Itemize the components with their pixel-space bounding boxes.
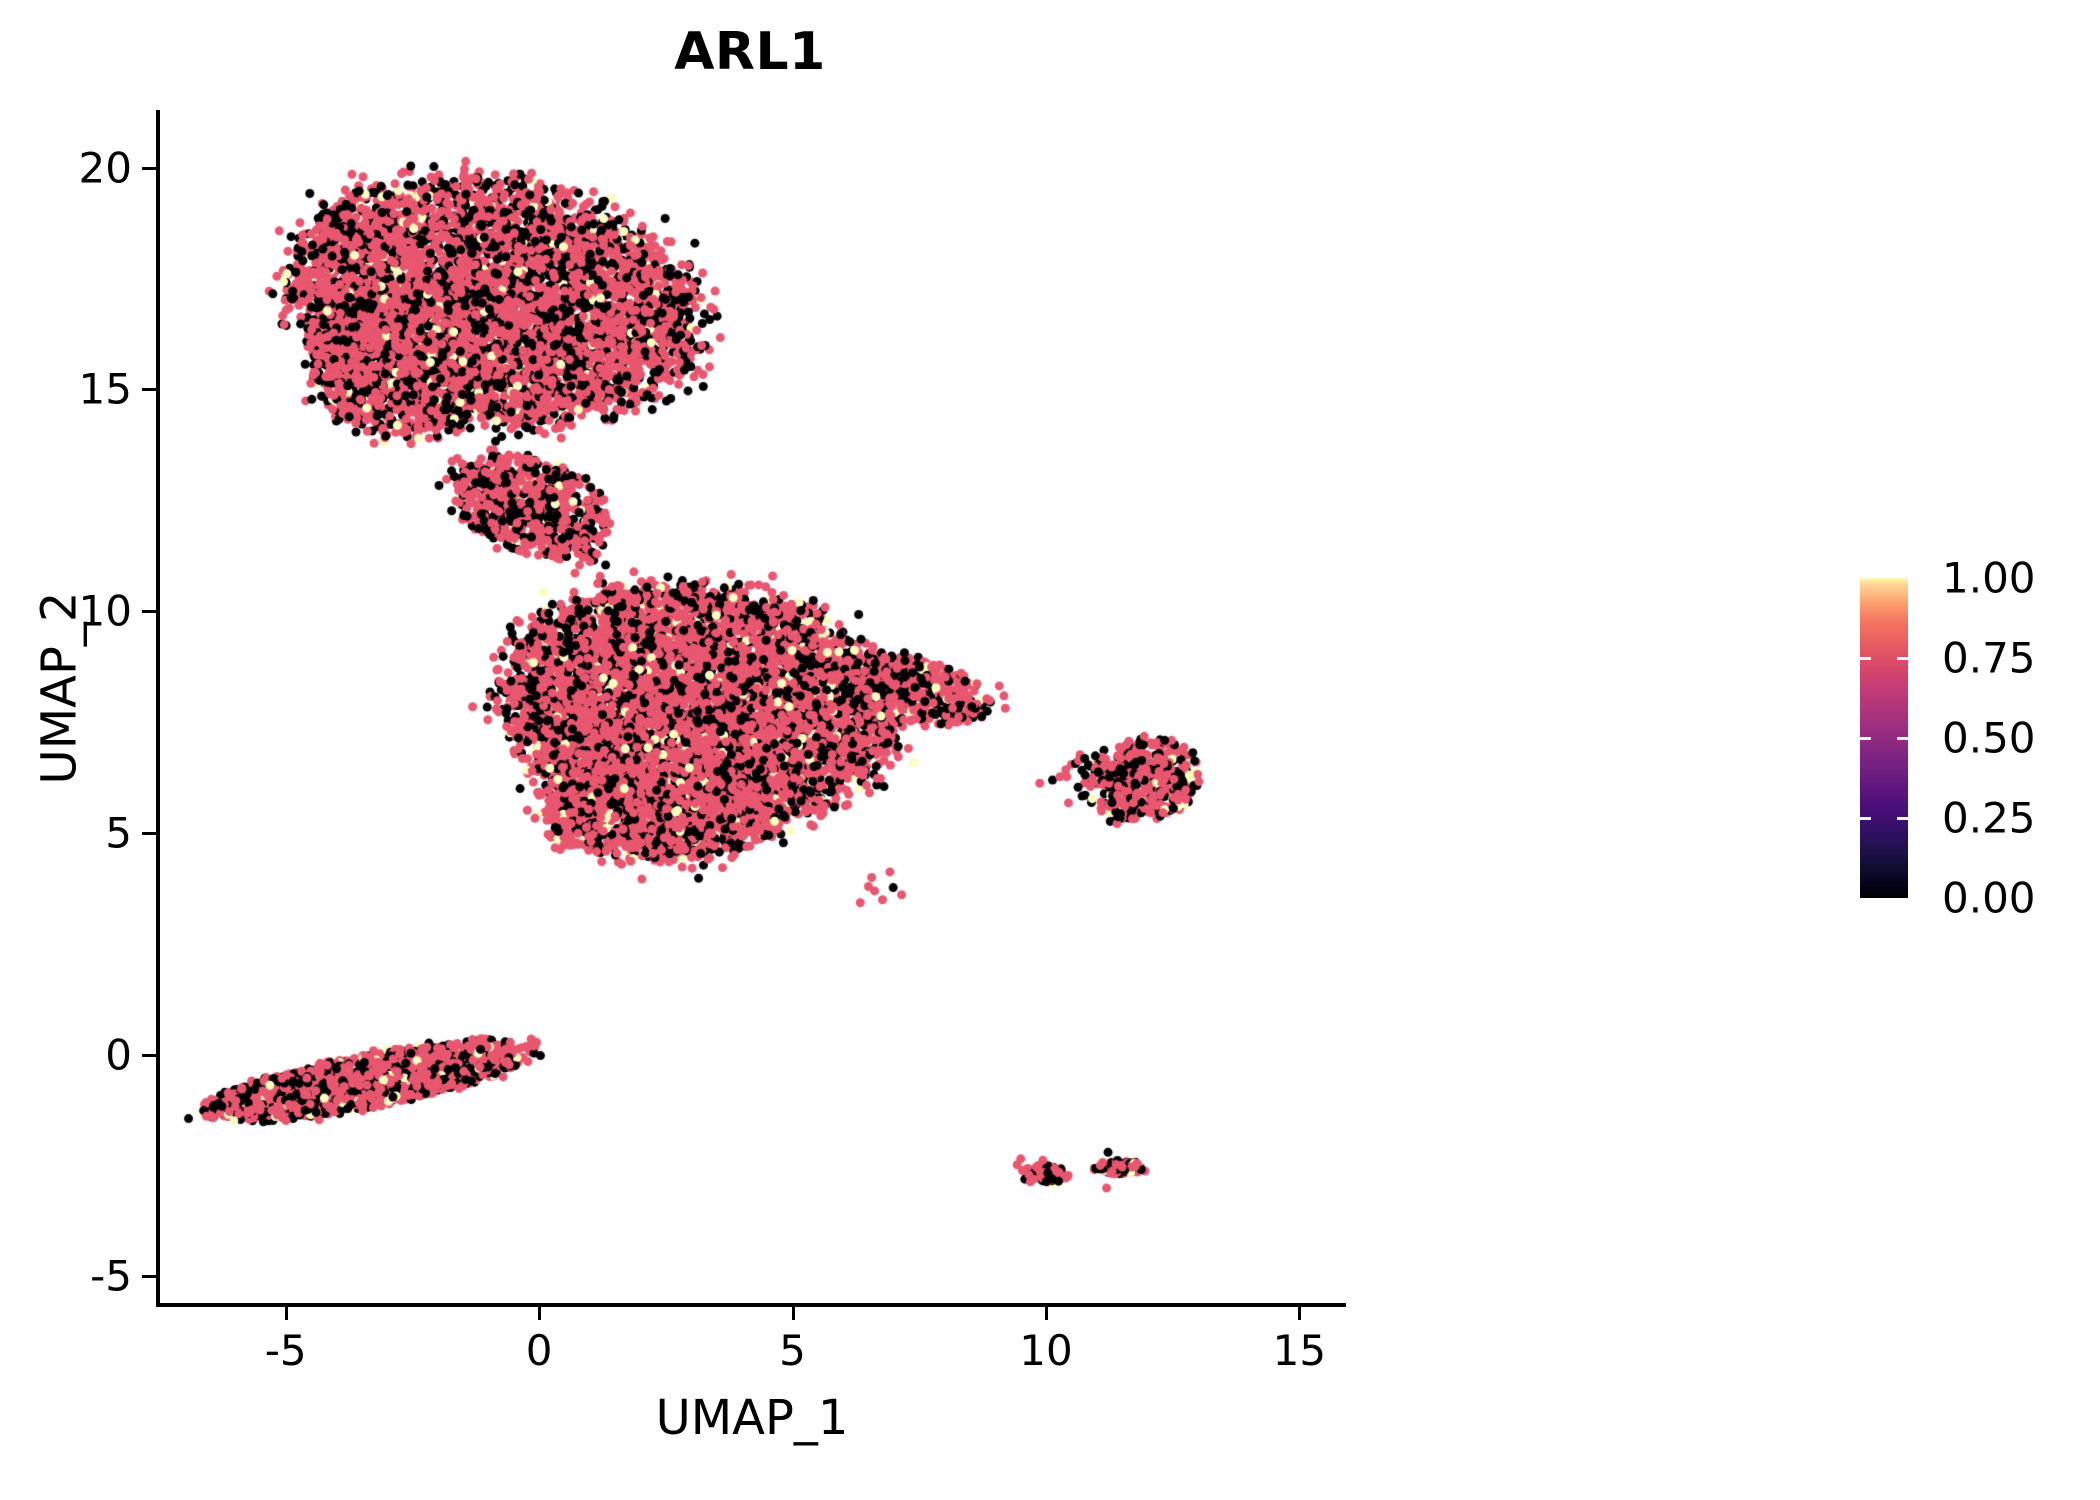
colorbar: 1.000.750.500.250.00 [1860, 578, 2080, 900]
x-tick-label: 5 [779, 1326, 806, 1375]
x-tick-mark [1045, 1306, 1048, 1320]
y-tick-mark [142, 388, 156, 391]
y-tick-mark [142, 1054, 156, 1057]
x-tick-label: 15 [1273, 1326, 1326, 1375]
x-tick-mark [538, 1306, 541, 1320]
colorbar-tick-mark [1897, 657, 1908, 660]
scatter-points-layer [159, 110, 1345, 1303]
colorbar-tick-label: 0.00 [1942, 874, 2036, 923]
y-tick-label: 5 [105, 808, 132, 857]
page-title: ARL1 [0, 22, 1500, 82]
x-tick-mark [1298, 1306, 1301, 1320]
x-axis-spine [156, 1303, 1346, 1307]
colorbar-tick-label: 1.00 [1942, 554, 2036, 603]
x-axis-label: UMAP_1 [159, 1390, 1345, 1446]
y-tick-mark [142, 167, 156, 170]
umap-feature-plot: ARL1 -5051015 -505101520 UMAP_1 UMAP_2 1… [0, 0, 2100, 1500]
y-tick-mark [142, 1275, 156, 1278]
y-axis-label: UMAP_2 [32, 92, 88, 1285]
x-tick-label: 0 [526, 1326, 553, 1375]
colorbar-tick-mark [1897, 737, 1908, 740]
y-tick-mark [142, 610, 156, 613]
colorbar-tick-mark [1860, 657, 1871, 660]
colorbar-tick-mark [1860, 737, 1871, 740]
colorbar-tick-mark [1860, 817, 1871, 820]
x-tick-mark [285, 1306, 288, 1320]
colorbar-tick-mark [1897, 817, 1908, 820]
y-axis-spine [156, 110, 160, 1306]
colorbar-tick-label: 0.75 [1942, 634, 2036, 683]
colorbar-tick-label: 0.25 [1942, 794, 2036, 843]
x-tick-label: -5 [265, 1326, 307, 1375]
y-tick-mark [142, 832, 156, 835]
colorbar-tick-label: 0.50 [1942, 714, 2036, 763]
y-tick-label: 0 [105, 1030, 132, 1079]
y-tick-label: -5 [90, 1252, 132, 1301]
x-tick-mark [792, 1306, 795, 1320]
plot-axes: -5051015 -505101520 [159, 110, 1345, 1303]
x-tick-label: 10 [1019, 1326, 1072, 1375]
